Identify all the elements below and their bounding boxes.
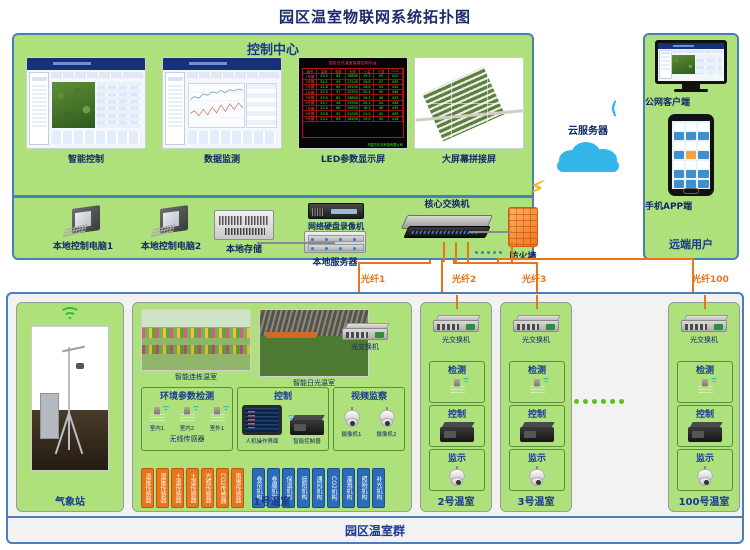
control-center-panel: 控制中心 智能控制 [12,33,534,260]
section-controller: 控制 [509,405,565,447]
link-server-to-core-switch [257,242,335,244]
fiber-route-3-h [453,262,538,264]
mobile-app-client[interactable] [668,114,714,196]
smartphone-icon [672,121,710,189]
public-client-label: 公网客户端 [645,95,737,108]
device-label: 核心交换机 [402,197,492,210]
led-header-cell: 光照 [346,69,360,73]
section-title: 检测 [430,363,484,376]
led-cell: 19.0 [360,117,374,121]
section-icon-wrap[interactable] [430,378,484,395]
section-title: 控制 [430,407,484,420]
controller-icon [688,422,722,442]
section-title: 检测 [678,363,732,376]
led-cell: 44 [374,101,388,105]
greenhouse-1-fiber-switch[interactable]: 光交换机 [335,323,395,352]
greenhouse-label: 3号温室 [501,493,571,508]
section-icon-wrap[interactable] [510,378,564,395]
device-nvr[interactable]: 网络硬盘录像机 [297,203,375,232]
controller-icon [290,415,324,435]
device-local-storage[interactable]: 本地存储 [209,210,279,255]
remote-users-panel: 公网客户端 手机APP端 远端用户 [643,33,739,260]
sensor-label: 室外1 [210,424,225,432]
fiber-route-1-d [358,262,360,296]
camera-icon [379,407,395,429]
section-title: 环境参数检测 [142,389,232,402]
section-icon-wrap[interactable] [510,466,564,488]
led-cell: 438 [389,101,403,105]
desktop-computer-icon [66,207,100,237]
section-title: 监示 [510,451,564,464]
led-cell: 418 [389,117,403,121]
device-label: 本地控制电脑1 [44,239,122,252]
section-camera: 监示 [509,449,565,491]
section-title: 控制 [678,407,732,420]
sensor-icon [450,378,465,395]
led-cell: 66 [332,106,346,110]
storage-array-icon [214,210,274,240]
section-title: 检测 [510,363,564,376]
public-network-client[interactable] [655,40,727,92]
led-cell: 42 [374,111,388,115]
controller-node[interactable]: 智能控制器 [290,415,324,445]
screen-caption: 数据监测 [162,152,282,165]
greenhouse-photo-connected [141,309,251,371]
screen-intelligent-control[interactable]: 智能控制 [26,57,146,167]
controller-icon [440,422,474,442]
greenhouse-card-3[interactable]: 光交换机检测控制监示100号温室 [668,302,740,512]
greenhouse-group-divider [8,516,742,518]
fiber-stub-2 [455,242,457,262]
section-icon-wrap[interactable] [678,422,732,442]
section-sensor: 检测 [509,361,565,403]
fiber-stub-3 [467,242,469,262]
led-cell: 59 [332,80,346,84]
sensor-icon [150,406,165,423]
section-environment-detection: 环境参数检测 室内1 室内2 [141,387,233,451]
led-display: 园区日光温室智能控制平台 编号温度湿度光照土温土湿CO21号棚23.562186… [299,58,407,148]
camera-icon [697,466,713,488]
led-cell: 45 [374,117,388,121]
desktop-monitor-icon [655,40,727,84]
led-cell: 405 [389,106,403,110]
section-sensor: 检测 [429,361,485,403]
led-cell: 455 [389,111,403,115]
led-cell: 20.4 [360,90,374,94]
fiber-switch-label: 光交换机 [669,335,739,345]
led-cell: 3号棚 [303,85,317,89]
device-local-control-pc-2[interactable]: 本地控制电脑2 [132,207,210,252]
fiber-route-3-d [536,262,538,296]
led-header-cell: 湿度 [332,69,346,73]
hmi-label: 人机操作界面 [242,437,282,445]
firewall-icon [508,207,538,247]
section-icon-wrap[interactable] [678,378,732,395]
led-cell: 18800 [346,95,360,99]
section-video-surveillance: 视频监察 摄像机1 摄像机2 [333,387,405,451]
weather-station-icon [31,326,109,471]
led-cell: 1号棚 [303,74,317,78]
led-cell: 46 [374,95,388,99]
section-controller: 控制 [429,405,485,447]
greenhouse-1-label: 1号温室 [133,493,411,508]
camera-label: 摄像机2 [377,430,397,438]
camera-icon [344,407,360,429]
led-cell: 57 [332,90,346,94]
sensor-icon [530,378,545,395]
fiber-switch-label: 光交换机 [421,335,491,345]
led-cell: 17900 [346,101,360,105]
section-camera: 监示 [429,449,485,491]
led-cell: 22.4 [317,106,331,110]
led-cell: 19.2 [360,74,374,78]
led-cell: 21000 [346,111,360,115]
fiber-drop [536,295,538,309]
section-title: 监示 [678,451,732,464]
section-icon-wrap[interactable] [430,422,484,442]
fiber-route-100-d [692,258,694,296]
led-header: 园区日光温室智能控制平台 [299,61,407,66]
led-cell: 19100 [346,85,360,89]
led-cell: 65 [332,85,346,89]
led-cell: 43 [374,85,388,89]
mobile-app-label: 手机APP端 [645,199,737,212]
camera-node[interactable]: 摄像机2 [377,407,397,438]
led-cell: 48 [374,106,388,110]
led-cell: 62 [332,74,346,78]
fiber-route-100-v [497,260,499,262]
led-cell: 5号棚 [303,95,317,99]
led-header-cell: 土温 [360,69,374,73]
led-cell: 18400 [346,117,360,121]
led-cell: 24.1 [317,80,331,84]
led-cell: 24.7 [317,101,331,105]
led-cell: 17200 [346,80,360,84]
sensor-icon [698,378,713,395]
led-cell: 7号棚 [303,106,317,110]
led-cell: 435 [389,80,403,84]
wireless-sensor-group-label: 无线传感器 [142,434,232,444]
greenhouse-photo-connected-label: 智能连栋温室 [141,372,251,382]
fiber-switch-label: 光交换机 [501,335,571,345]
fiber-switch-icon [513,315,559,333]
fiber-switch-icon [433,315,479,333]
section-icon-wrap[interactable] [430,466,484,488]
camera-label: 摄像机1 [342,430,362,438]
sensor-icon [180,406,195,423]
led-cell: 22.8 [317,85,331,89]
sensor-label: 室内2 [180,424,195,432]
fiber-ellipsis [475,251,502,254]
wifi-signal-up-icon [612,96,634,122]
controller-icon [520,422,554,442]
greenhouse-card-1[interactable]: 光交换机检测控制监示2号温室 [420,302,492,512]
wireless-sensor-node[interactable]: 室外1 [210,406,225,432]
led-cell: 19600 [346,106,360,110]
fiber-switch-icon [681,315,727,333]
camera-icon [449,466,465,488]
screen-data-monitoring[interactable]: 数据监测 [162,57,282,167]
fiber-drop [704,295,706,309]
led-cell: 20.1 [360,101,374,105]
section-sensor: 检测 [677,361,733,403]
led-header-cell: 编号 [303,69,317,73]
led-cell: 18600 [346,74,360,78]
led-cell: 8号棚 [303,111,317,115]
device-label: 防火墙 [503,249,543,262]
led-cell: 25.3 [317,90,331,94]
led-cell: 6号棚 [303,101,317,105]
fiber-label-2: 光纤2 [452,272,476,285]
desktop-computer-icon [154,207,188,237]
section-title: 视频监察 [334,389,404,402]
led-row: 9号棚23.2631840019.045418 [303,117,403,122]
software-screenshot-monitoring [163,58,281,148]
controller-label: 智能控制器 [290,437,324,445]
led-cell: 49 [374,90,388,94]
camera-node[interactable]: 摄像机1 [342,407,362,438]
wireless-sensor-node[interactable]: 室内1 [150,406,165,432]
core-switch-icon [404,213,490,243]
led-cell: 55 [332,111,346,115]
section-icon-wrap[interactable] [510,422,564,442]
led-cell: 448 [389,90,403,94]
greenhouse-label: 2号温室 [421,493,491,508]
led-cell: 19.8 [360,80,374,84]
wireless-sensor-node[interactable]: 室内2 [180,406,195,432]
fiber-stub-1 [443,242,445,262]
wifi-icon [57,308,83,322]
fiber-label-3: 光纤3 [522,272,546,285]
fiber-switch-node[interactable]: 光交换机 [501,315,571,345]
led-cell: 4号棚 [303,90,317,94]
page-title: 园区温室物联网系统拓扑图 [0,6,750,27]
screen-caption: 智能控制 [26,152,146,165]
led-cell: 58 [332,101,346,105]
fiber-route-2 [441,260,443,296]
control-center-title: 控制中心 [14,39,532,58]
sensor-icon [210,406,225,423]
greenhouse-group-footer: 园区温室群 [8,522,742,539]
section-title: 监示 [430,451,484,464]
fiber-drop [456,295,458,309]
cloud-server-label: 云服务器 [553,122,623,137]
fiber-switch-node[interactable]: 光交换机 [421,315,491,345]
screen-video-wall[interactable]: 大屏幕拼接屏 [414,57,524,167]
wifi-signal-down-icon [612,150,634,176]
greenhouse-card-2[interactable]: 光交换机检测控制监示3号温室 [500,302,572,512]
led-cell: 45 [374,74,388,78]
screen-caption: 大屏幕拼接屏 [414,152,524,165]
weather-station-label: 气象站 [17,493,123,508]
video-wall-image [415,58,523,148]
led-cell: 19.5 [360,95,374,99]
section-title: 控制 [238,389,328,402]
weather-station-card[interactable]: 气象站 [16,302,124,512]
led-table: 编号温度湿度光照土温土湿CO21号棚23.5621860019.2454202号… [302,68,404,138]
led-cell: 20300 [346,90,360,94]
led-header-cell: CO2 [389,69,403,73]
device-firewall[interactable]: 防火墙 [503,207,543,262]
led-cell: 23.5 [317,74,331,78]
greenhouse-ellipsis [574,399,624,404]
led-header-cell: 土湿 [374,69,388,73]
led-cell: 18.2 [360,106,374,110]
led-cell: 420 [389,74,403,78]
device-label: 本地控制电脑2 [132,239,210,252]
device-core-switch[interactable]: 核心交换机 [402,197,492,243]
led-cell: 410 [389,85,403,89]
led-cell: 18.6 [360,85,374,89]
fiber-switch-icon [342,323,388,341]
remote-users-footer: 远端用户 [645,236,737,252]
section-camera: 监示 [677,449,733,491]
led-cell: 23.9 [317,95,331,99]
fiber-route-1-h [358,262,431,264]
greenhouse-1-card[interactable]: 智能连栋温室 智能日光温室 光交换机 环境参数检测 室内1 [132,302,412,512]
led-cell: 2号棚 [303,80,317,84]
led-cell: 63 [332,117,346,121]
camera-icon [529,466,545,488]
link-core-switch-to-firewall [469,231,511,233]
led-footer: 内蒙古中天科技有限公司 [368,142,403,147]
led-cell: 61 [332,95,346,99]
software-screenshot-control [27,58,145,148]
fiber-label-1: 光纤1 [361,272,385,285]
led-cell: 23.2 [317,117,331,121]
led-cell: 9号棚 [303,117,317,121]
screen-led-board[interactable]: 园区日光温室智能控制平台 编号温度湿度光照土温土湿CO21号棚23.562186… [298,57,408,167]
led-cell: 25.8 [317,111,331,115]
section-icon-wrap[interactable] [678,466,732,488]
greenhouse-group-panel: 园区温室群 气象站 智能连栋温室 智能日光温室 [6,292,744,544]
device-local-control-pc-1[interactable]: 本地控制电脑1 [44,207,122,252]
fiber-route-100-h [497,258,694,260]
fiber-switch-label: 光交换机 [335,342,395,352]
sensor-label: 室内1 [150,424,165,432]
section-control: 控制 人机操作界面 智能控制器 [237,387,329,451]
hmi-node[interactable]: 人机操作界面 [242,405,282,445]
led-cell: 47 [374,80,388,84]
fiber-switch-node[interactable]: 光交换机 [669,315,739,345]
hmi-panel-icon [242,405,282,435]
led-cell: 425 [389,95,403,99]
nvr-icon [308,203,364,219]
screen-caption: LED参数显示屏 [298,152,408,165]
section-controller: 控制 [677,405,733,447]
fiber-label-100: 光纤100 [692,272,729,285]
section-title: 控制 [510,407,564,420]
led-cell: 21.0 [360,111,374,115]
wireless-bolt-icon: ⚡ [527,177,547,202]
greenhouse-label: 100号温室 [669,493,739,508]
led-header-cell: 温度 [317,69,331,73]
